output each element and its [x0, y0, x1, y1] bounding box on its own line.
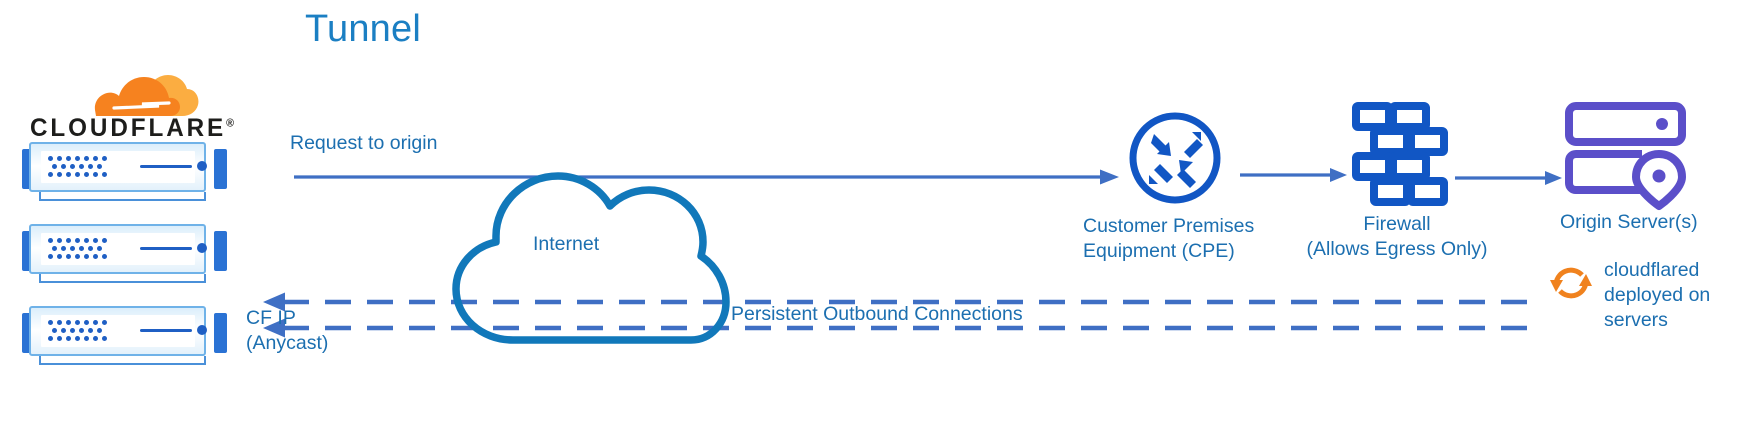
cpe-label: Customer Premises Equipment (CPE) — [1083, 214, 1179, 264]
cpe-to-firewall-arrow — [1240, 168, 1347, 182]
cf-ip-anycast-caption: CF IP (Anycast) — [246, 306, 328, 356]
cpe-label-line-2: Equipment (CPE) — [1083, 239, 1179, 264]
cpe-label-line-1: Customer Premises — [1083, 214, 1179, 239]
request-to-origin-label: Request to origin — [290, 131, 437, 156]
cloudflared-label-line-3: servers — [1604, 308, 1710, 333]
origin-server-node: Origin Server(s) — [1563, 100, 1698, 235]
request-to-origin-arrow — [294, 170, 1119, 185]
persistent-outbound-connections-label: Persistent Outbound Connections — [731, 302, 1023, 327]
firewall-label: Firewall (Allows Egress Only) — [1297, 212, 1497, 262]
origin-server-label: Origin Server(s) — [1560, 210, 1698, 235]
cf-ip-line-2: (Anycast) — [246, 331, 328, 356]
cloudflared-label-line-2: deployed on — [1604, 283, 1710, 308]
internet-cloud-icon — [456, 176, 726, 340]
cpe-node: Customer Premises Equipment (CPE) — [1127, 110, 1223, 264]
server-location-pin-icon — [1563, 100, 1693, 204]
brick-wall-icon — [1348, 100, 1446, 206]
tunnel-architecture-diagram: Tunnel CLOUDFLARE® — [0, 0, 1754, 422]
converging-arrows-circle-icon — [1127, 110, 1223, 206]
firewall-label-line-2: (Allows Egress Only) — [1297, 237, 1497, 262]
cloudflared-label: cloudflared deployed on servers — [1604, 258, 1710, 333]
firewall-node: Firewall (Allows Egress Only) — [1348, 100, 1497, 262]
cf-ip-line-1: CF IP — [246, 306, 328, 331]
circular-sync-arrows-icon — [1548, 260, 1594, 306]
firewall-label-line-1: Firewall — [1297, 212, 1497, 237]
internet-label: Internet — [533, 232, 599, 257]
cloudflared-label-line-1: cloudflared — [1604, 258, 1710, 283]
